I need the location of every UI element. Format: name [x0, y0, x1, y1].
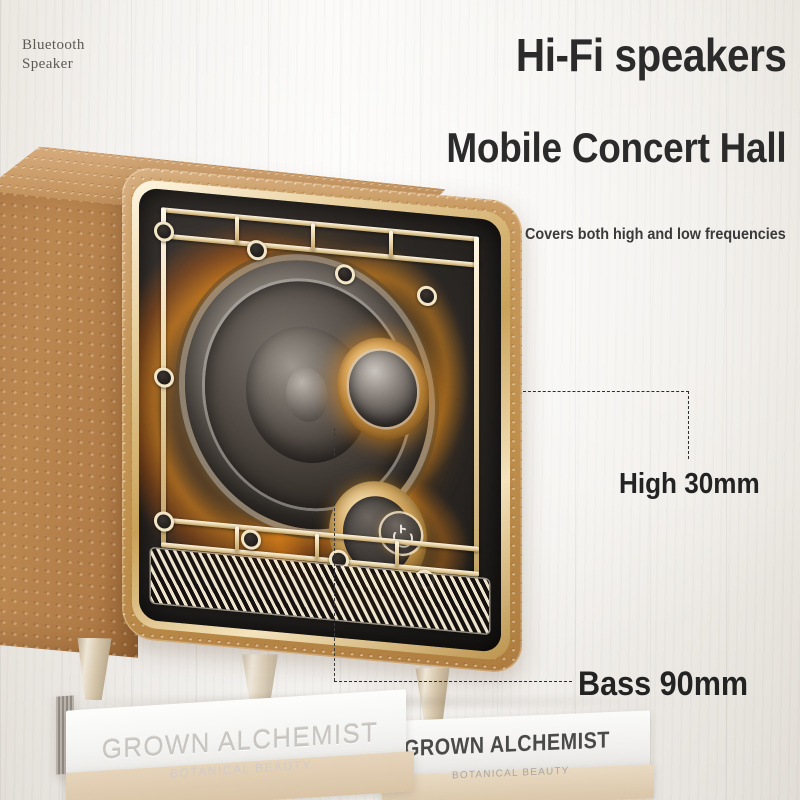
- advertisement-canvas: GROWN ALCHEMIST BOTANICAL BEAUTY GROWN A…: [0, 0, 800, 800]
- frame-screw-boss-t2: [335, 263, 355, 285]
- brand-kicker-line2: Speaker: [22, 55, 85, 74]
- frame-divider-d: [235, 526, 239, 551]
- driver-chamber: [139, 187, 501, 653]
- frame-bar-right: [474, 236, 479, 576]
- frame-divider-a: [235, 216, 239, 243]
- frame-screw-boss-l: [154, 367, 174, 389]
- high-callout-leader-horizontal: [523, 391, 689, 392]
- frame-screw-boss-b1: [241, 529, 261, 551]
- frame-screw-boss-tl: [154, 221, 174, 243]
- frame-screw-boss-tr: [417, 285, 437, 307]
- brand-kicker: Bluetooth Speaker: [22, 36, 85, 74]
- speaker-product: [0, 168, 560, 678]
- brand-kicker-line1: Bluetooth: [22, 36, 85, 55]
- frame-divider-c: [389, 230, 393, 257]
- frame-divider-f: [395, 541, 399, 566]
- cabinet-side-panel: [0, 168, 138, 657]
- frame-screw-boss-bl: [154, 511, 174, 533]
- headline-subcopy: Covers both high and low frequencies: [525, 226, 786, 244]
- callout-label-high: High 30mm: [619, 468, 760, 501]
- bass-callout-leader-vertical: [334, 428, 335, 681]
- headline-primary: Hi-Fi speakers: [515, 28, 786, 82]
- high-callout-leader-vertical: [688, 391, 689, 459]
- frame-divider-b: [311, 223, 315, 250]
- callout-label-bass: Bass 90mm: [578, 665, 748, 704]
- frame-divider-e: [315, 534, 319, 559]
- frame-bar-top-2: [161, 233, 479, 267]
- headline-secondary: Mobile Concert Hall: [446, 124, 786, 172]
- bass-callout-leader-horizontal: [334, 681, 572, 682]
